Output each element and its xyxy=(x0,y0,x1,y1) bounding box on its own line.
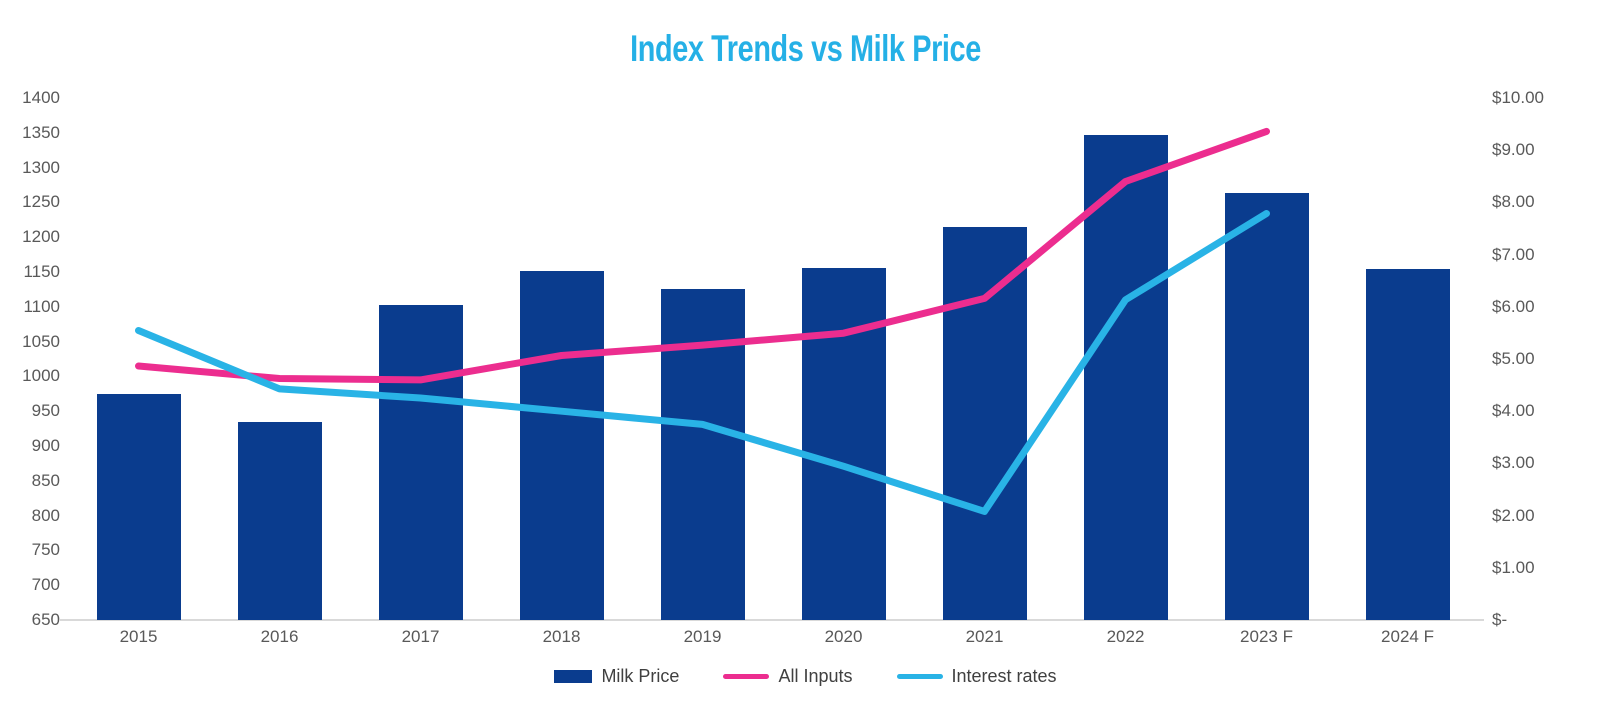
chart-legend: Milk PriceAll InputsInterest rates xyxy=(0,666,1611,686)
x-tick-label: 2024 F xyxy=(1348,628,1468,646)
y-tick-right: $2.00 xyxy=(1492,507,1602,524)
y-tick-right: $3.00 xyxy=(1492,454,1602,471)
y-tick-right: $- xyxy=(1492,611,1602,628)
legend-item[interactable]: Milk Price xyxy=(554,666,679,686)
legend-swatch-line-icon xyxy=(897,674,943,679)
y-tick-right: $1.00 xyxy=(1492,559,1602,576)
y-tick-right: $5.00 xyxy=(1492,350,1602,367)
x-tick-label: 2019 xyxy=(643,628,763,646)
chart-container: Index Trends vs Milk Price 6507007508008… xyxy=(0,0,1611,726)
y-tick-left: 1150 xyxy=(8,263,60,280)
x-tick-label: 2021 xyxy=(925,628,1045,646)
y-tick-left: 850 xyxy=(8,472,60,489)
x-tick-label: 2020 xyxy=(784,628,904,646)
x-tick-label: 2017 xyxy=(361,628,481,646)
y-tick-left: 750 xyxy=(8,541,60,558)
legend-label: Milk Price xyxy=(601,666,679,686)
y-tick-left: 1050 xyxy=(8,333,60,350)
y-tick-left: 950 xyxy=(8,402,60,419)
x-tick-label: 2015 xyxy=(79,628,199,646)
x-tick-label: 2022 xyxy=(1066,628,1186,646)
y-tick-left: 1000 xyxy=(8,367,60,384)
chart-title: Index Trends vs Milk Price xyxy=(177,28,1434,70)
y-tick-left: 800 xyxy=(8,507,60,524)
y-tick-left: 900 xyxy=(8,437,60,454)
y-tick-left: 1200 xyxy=(8,228,60,245)
legend-label: Interest rates xyxy=(952,666,1057,686)
legend-swatch-line-icon xyxy=(723,674,769,679)
y-tick-right: $7.00 xyxy=(1492,246,1602,263)
y-tick-left: 1400 xyxy=(8,89,60,106)
x-tick-label: 2016 xyxy=(220,628,340,646)
legend-item[interactable]: Interest rates xyxy=(897,666,1057,686)
y-tick-left: 1250 xyxy=(8,193,60,210)
y-tick-left: 1100 xyxy=(8,298,60,315)
y-tick-left: 650 xyxy=(8,611,60,628)
line-series-interest-rates[interactable] xyxy=(139,214,1267,512)
legend-item[interactable]: All Inputs xyxy=(723,666,852,686)
y-tick-left: 1350 xyxy=(8,124,60,141)
y-tick-left: 700 xyxy=(8,576,60,593)
y-tick-right: $8.00 xyxy=(1492,193,1602,210)
y-tick-right: $9.00 xyxy=(1492,141,1602,158)
legend-swatch-bar-icon xyxy=(554,670,592,683)
plot-area xyxy=(68,98,1478,620)
x-tick-label: 2023 F xyxy=(1207,628,1327,646)
legend-label: All Inputs xyxy=(778,666,852,686)
x-tick-label: 2018 xyxy=(502,628,622,646)
y-tick-right: $6.00 xyxy=(1492,298,1602,315)
line-series-layer xyxy=(68,98,1478,620)
y-tick-right: $10.00 xyxy=(1492,89,1602,106)
y-tick-right: $4.00 xyxy=(1492,402,1602,419)
y-tick-left: 1300 xyxy=(8,159,60,176)
